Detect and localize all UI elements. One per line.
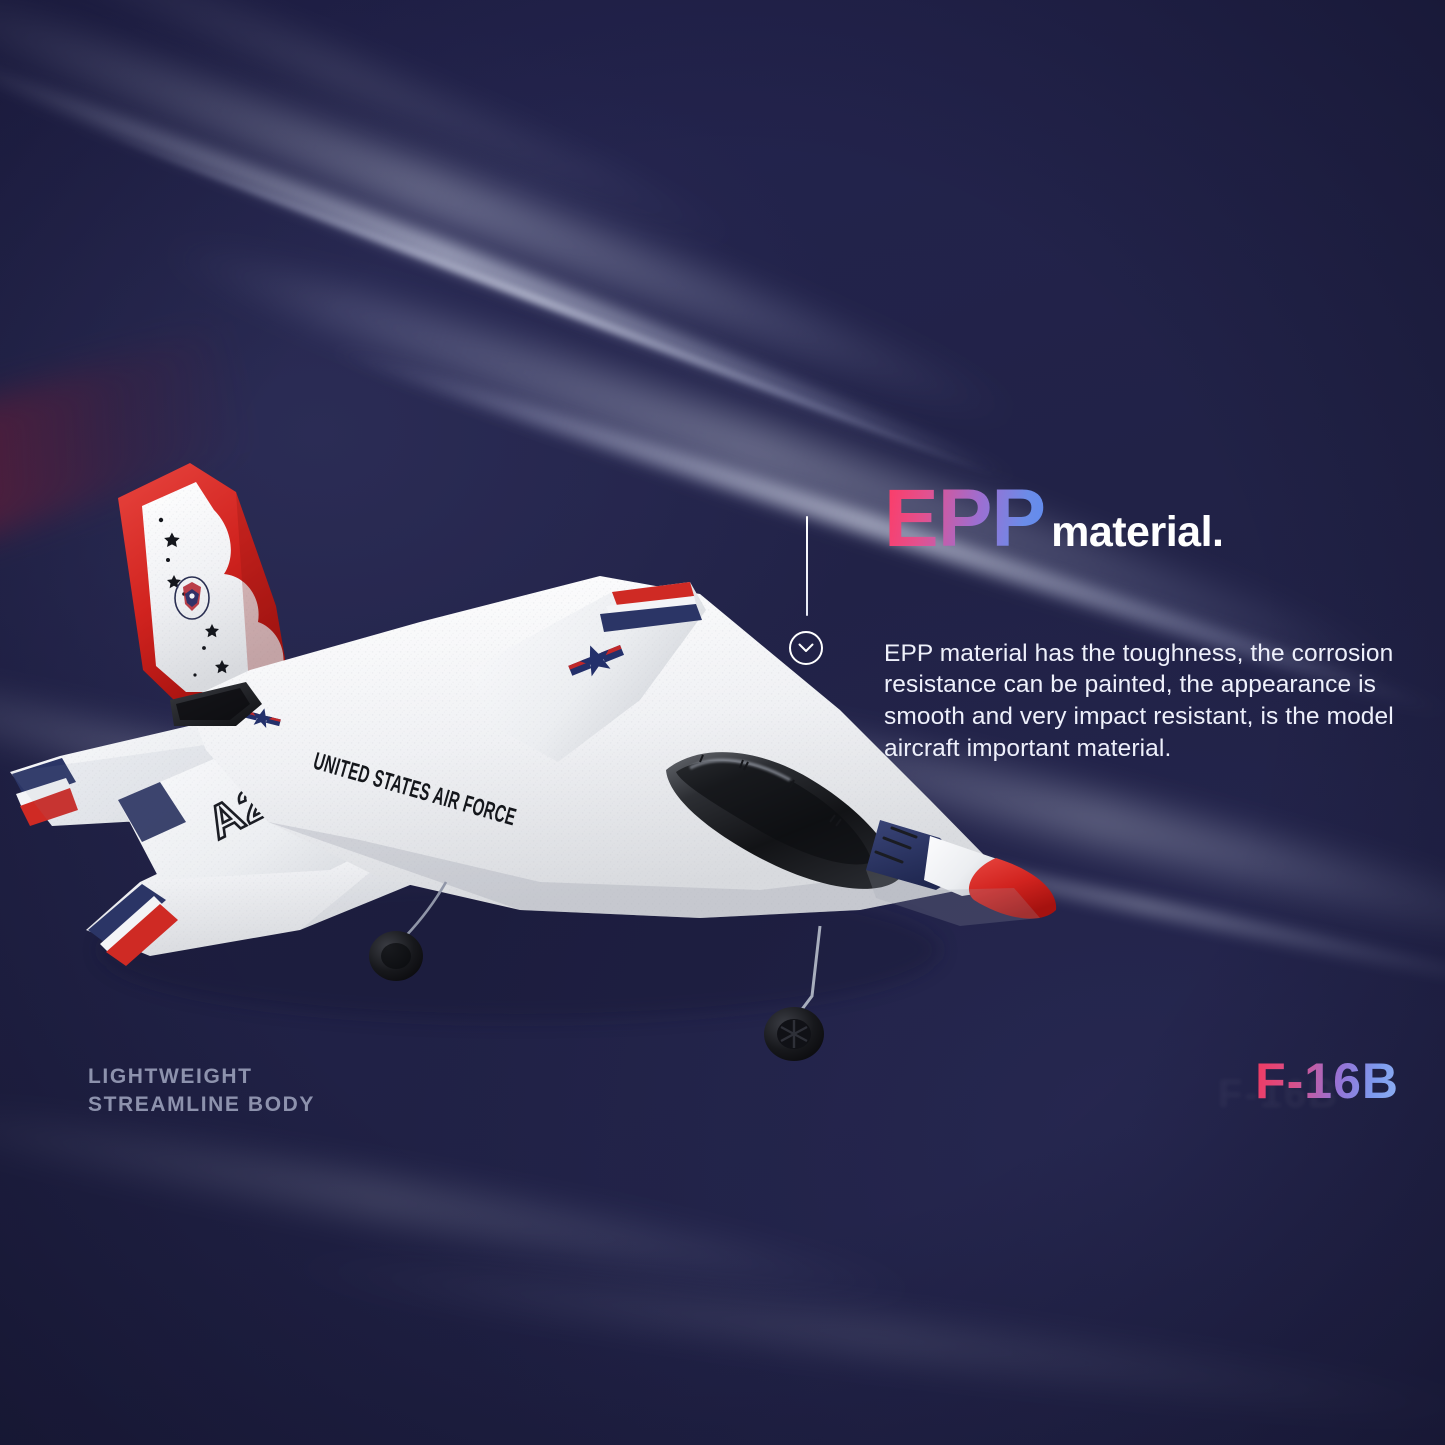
tagline: LIGHTWEIGHT STREAMLINE BODY: [88, 1063, 315, 1118]
chevron-down-icon[interactable]: [789, 631, 823, 665]
product-marketing-image: A200 UNITED STATES AIR FORCE: [0, 0, 1445, 1445]
body-paragraph: EPP material has the toughness, the corr…: [884, 638, 1396, 765]
model-name: F-16B: [1255, 1056, 1399, 1106]
headline-highlight: EPP: [884, 478, 1045, 560]
tagline-line-1: LIGHTWEIGHT: [88, 1063, 315, 1091]
model-label-group: F-16B F-16B: [1255, 1056, 1399, 1106]
headline: EPP material.: [884, 478, 1223, 560]
headline-rest: material.: [1051, 511, 1223, 554]
tagline-line-2: STREAMLINE BODY: [88, 1091, 315, 1119]
callout-leader-line: [806, 516, 808, 616]
